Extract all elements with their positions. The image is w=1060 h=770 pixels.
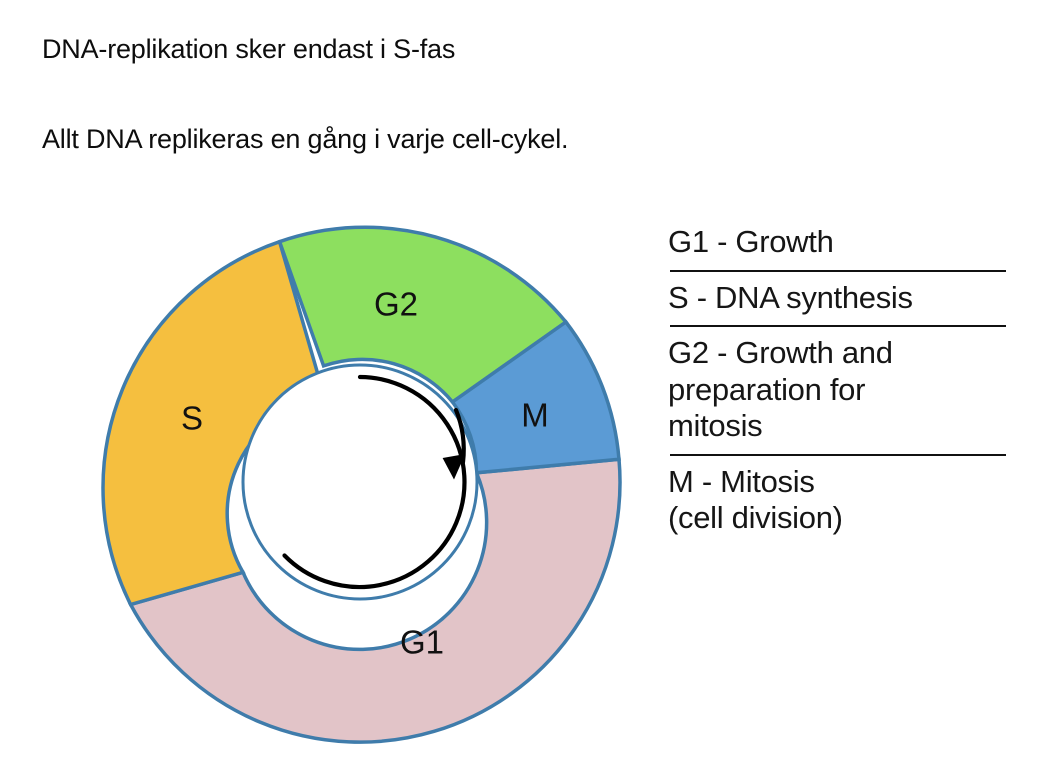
legend-text-g1: G1 - Growth [668,224,1020,261]
legend-text-m: M - Mitosis (cell division) [668,464,1020,537]
heading-line-2: Allt DNA replikeras en gång i varje cell… [42,124,568,155]
donut-hole [243,365,477,599]
segment-label-g2: G2 [374,286,418,323]
phase-legend: G1 - Growth S - DNA synthesis G2 - Growt… [668,224,1020,537]
slide-canvas: DNA-replikation sker endast i S-fas Allt… [0,0,1060,770]
legend-divider-3 [670,454,1006,456]
legend-row-g1: G1 - Growth [668,224,1020,261]
heading-line-1: DNA-replikation sker endast i S-fas [42,34,455,65]
legend-divider-2 [670,325,1006,327]
legend-row-g2: G2 - Growth and preparation for mitosis [668,335,1020,445]
legend-row-m: M - Mitosis (cell division) [668,464,1020,537]
cell-cycle-diagram: G2 S M G1 [78,196,658,770]
segment-label-s: S [181,400,203,437]
segment-label-g1: G1 [400,624,444,661]
segment-label-m: M [521,397,549,434]
legend-divider-1 [670,270,1006,272]
legend-text-s: S - DNA synthesis [668,280,1020,317]
cell-cycle-svg: G2 S M G1 [78,196,658,770]
legend-text-g2: G2 - Growth and preparation for mitosis [668,335,1020,445]
legend-row-s: S - DNA synthesis [668,280,1020,317]
